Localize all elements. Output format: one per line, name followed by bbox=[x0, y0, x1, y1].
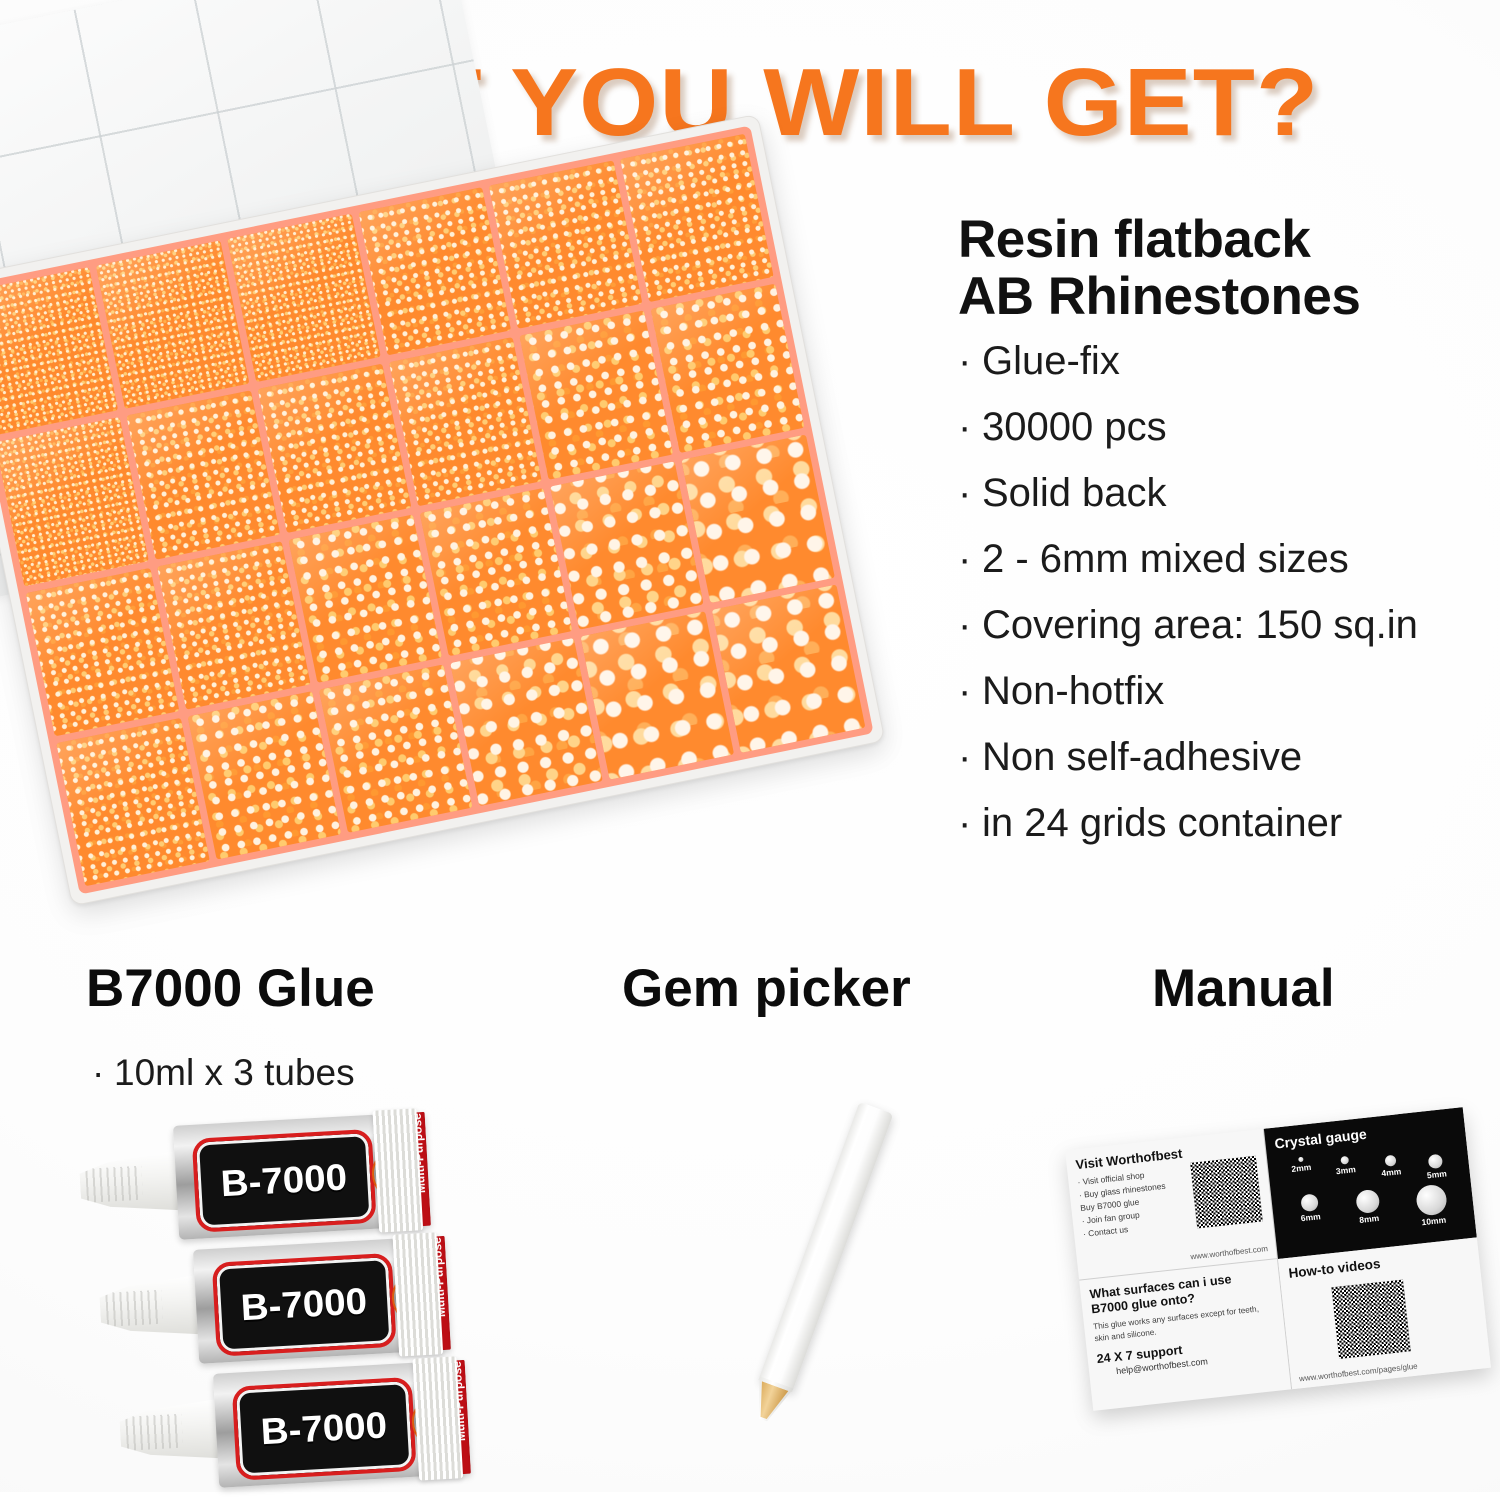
glue-quantity-line: ·10ml x 3 tubes bbox=[92, 1052, 355, 1094]
bullet-icon: · bbox=[958, 737, 982, 777]
product-spec-column: Resin flatback AB Rhinestones ·Glue-fix … bbox=[958, 212, 1498, 869]
gauge-label: 5mm bbox=[1414, 1167, 1459, 1182]
feature-text: Covering area: 150 sq.in bbox=[982, 603, 1418, 647]
tray-cell bbox=[126, 391, 279, 560]
tray-cell bbox=[187, 691, 340, 860]
tube-brand-text: B-7000 bbox=[260, 1404, 388, 1453]
bullet-icon: · bbox=[958, 671, 982, 711]
tray-cell bbox=[419, 487, 572, 656]
tray-cell bbox=[681, 434, 834, 603]
gauge-item: 2mm bbox=[1278, 1155, 1323, 1176]
product-heading-line1: Resin flatback bbox=[958, 210, 1310, 269]
gauge-label: 8mm bbox=[1343, 1211, 1396, 1227]
feature-list: ·Glue-fix ·30000 pcs ·Solid back ·2 - 6m… bbox=[958, 341, 1498, 843]
gauge-label: 10mm bbox=[1405, 1213, 1462, 1229]
tray-cell bbox=[56, 718, 209, 887]
bullet-icon: · bbox=[92, 1052, 114, 1094]
tray-cell bbox=[0, 417, 149, 586]
tray-cell bbox=[26, 567, 179, 736]
tray-cell bbox=[550, 461, 703, 630]
tray-cell bbox=[319, 664, 472, 833]
card-visit-panel: Visit Worthofbest · Visit official shop … bbox=[1065, 1129, 1278, 1281]
tube-crimp-seal bbox=[392, 1232, 443, 1356]
glue-tube: B-7000 CLEAR Multi-Purpose Glue 0.5 OZ /… bbox=[77, 1107, 483, 1247]
tube-brand-badge: B-7000 bbox=[232, 1377, 417, 1481]
gauge-stone-icon bbox=[1428, 1154, 1443, 1169]
tray-cell bbox=[227, 214, 380, 383]
manual-card: Visit Worthofbest · Visit official shop … bbox=[1065, 1107, 1491, 1411]
gauge-stone-icon bbox=[1415, 1184, 1448, 1217]
feature-text: 2 - 6mm mixed sizes bbox=[982, 537, 1349, 581]
tube-brand-text: B-7000 bbox=[220, 1156, 348, 1205]
gauge-label: 2mm bbox=[1279, 1161, 1324, 1176]
bullet-icon: · bbox=[958, 341, 982, 381]
tube-brand-badge: B-7000 bbox=[212, 1253, 397, 1357]
tray-cell bbox=[257, 364, 410, 533]
tube-brand-badge: B-7000 bbox=[192, 1129, 377, 1233]
tube-crimp-seal bbox=[372, 1108, 423, 1232]
tray-cell bbox=[389, 337, 542, 506]
list-item: ·Non self-adhesive bbox=[958, 737, 1498, 777]
tube-crimp-seal bbox=[412, 1356, 463, 1480]
tray-cell bbox=[489, 160, 642, 329]
tube-brand-text: B-7000 bbox=[240, 1280, 368, 1329]
tray-cell bbox=[96, 240, 249, 409]
gauge-stone-icon bbox=[1298, 1157, 1304, 1163]
glue-tube: B-7000 CLEAR Multi-Purpose Glue 0.5 OZ /… bbox=[117, 1355, 523, 1495]
gauge-item: 10mm bbox=[1402, 1182, 1462, 1229]
tray-cell bbox=[620, 134, 773, 303]
visit-url: www.worthofbest.com bbox=[1190, 1244, 1268, 1261]
feature-text: Non-hotfix bbox=[982, 669, 1164, 713]
list-item: ·Solid back bbox=[958, 473, 1498, 513]
gauge-stone-icon bbox=[1384, 1155, 1396, 1167]
tray-cell bbox=[358, 187, 511, 356]
tray-cell bbox=[712, 584, 865, 753]
bullet-icon: · bbox=[958, 407, 982, 447]
crystal-gauge-grid: 2mm 3mm 4mm 5mm 6mm 8mm bbox=[1276, 1136, 1466, 1241]
bullet-icon: · bbox=[958, 605, 982, 645]
gauge-item: 8mm bbox=[1340, 1187, 1395, 1226]
bullet-icon: · bbox=[958, 473, 982, 513]
list-item: ·Non-hotfix bbox=[958, 671, 1498, 711]
list-item: ·Covering area: 150 sq.in bbox=[958, 605, 1498, 645]
gauge-item: 4mm bbox=[1368, 1153, 1414, 1180]
rhinestone-container bbox=[0, 150, 890, 950]
tray-cell bbox=[581, 611, 734, 780]
bullet-icon: · bbox=[958, 803, 982, 843]
bullet-icon: · bbox=[958, 539, 982, 579]
product-heading-line2: AB Rhinestones bbox=[958, 267, 1360, 326]
card-surfaces-panel: What surfaces can i use B7000 glue onto?… bbox=[1079, 1259, 1292, 1411]
manual-section-heading: Manual bbox=[1152, 958, 1335, 1019]
picker-section-heading: Gem picker bbox=[622, 958, 911, 1019]
videos-qr-code-icon bbox=[1331, 1280, 1410, 1359]
tray-cell bbox=[157, 541, 310, 710]
gauge-label: 3mm bbox=[1323, 1163, 1368, 1178]
gauge-stone-icon bbox=[1340, 1156, 1349, 1165]
glue-tube: B-7000 CLEAR Multi-Purpose Glue 0.5 OZ /… bbox=[97, 1231, 503, 1371]
gauge-stone-icon bbox=[1300, 1193, 1319, 1212]
tray-cell bbox=[288, 514, 441, 683]
card-videos-panel: How-to videos www.worthofbest.com/pages/… bbox=[1278, 1237, 1491, 1389]
list-item: ·in 24 grids container bbox=[958, 803, 1498, 843]
feature-text: Solid back bbox=[982, 471, 1167, 515]
product-heading: Resin flatback AB Rhinestones bbox=[958, 212, 1498, 325]
list-item: ·2 - 6mm mixed sizes bbox=[958, 539, 1498, 579]
glue-quantity-text: 10ml x 3 tubes bbox=[114, 1052, 355, 1093]
feature-text: Non self-adhesive bbox=[982, 735, 1302, 779]
gauge-label: 4mm bbox=[1369, 1165, 1414, 1180]
feature-text: Glue-fix bbox=[982, 339, 1120, 383]
feature-text: in 24 grids container bbox=[982, 801, 1342, 845]
tray-cell bbox=[450, 638, 603, 807]
gauge-item: 6mm bbox=[1284, 1192, 1335, 1225]
tray-cell bbox=[520, 311, 673, 480]
feature-text: 30000 pcs bbox=[982, 405, 1167, 449]
visit-qr-code-icon bbox=[1190, 1156, 1263, 1229]
gauge-item: 3mm bbox=[1322, 1154, 1368, 1178]
glue-section-heading: B7000 Glue bbox=[86, 958, 375, 1019]
gauge-item: 5mm bbox=[1413, 1152, 1459, 1182]
gauge-label: 6mm bbox=[1286, 1210, 1335, 1225]
list-item: ·Glue-fix bbox=[958, 341, 1498, 381]
list-item: ·30000 pcs bbox=[958, 407, 1498, 447]
gauge-stone-icon bbox=[1355, 1189, 1380, 1214]
tray-grid bbox=[0, 125, 874, 894]
card-gauge-panel: Crystal gauge 2mm 3mm 4mm 5mm 6mm bbox=[1264, 1107, 1477, 1259]
tray-cell bbox=[651, 284, 804, 453]
